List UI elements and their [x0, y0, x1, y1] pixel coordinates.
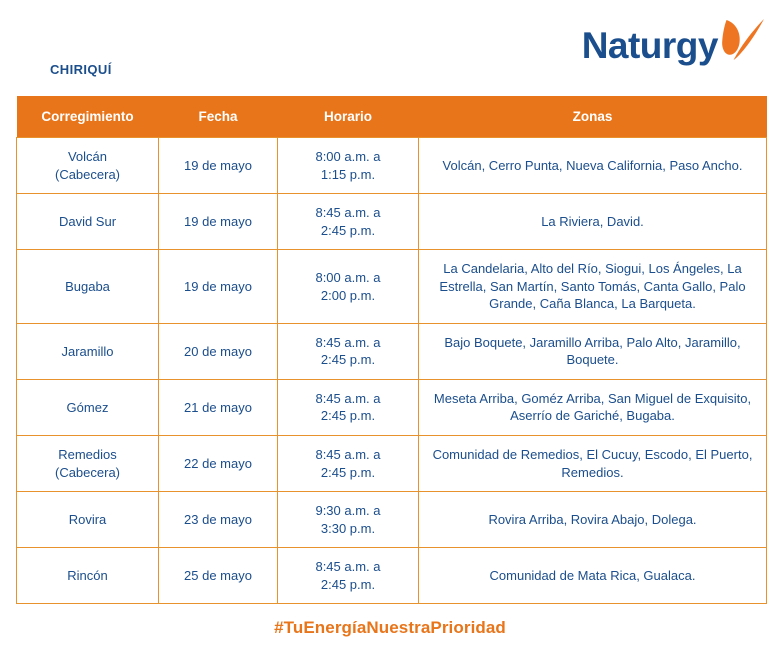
column-header-corregimiento: Corregimiento [17, 96, 159, 138]
cell-fecha: 19 de mayo [159, 138, 278, 194]
table-row: Bugaba19 de mayo8:00 a.m. a2:00 p.m.La C… [17, 250, 767, 324]
cell-zonas: Bajo Boquete, Jaramillo Arriba, Palo Alt… [419, 323, 767, 379]
column-header-horario: Horario [278, 96, 419, 138]
cell-corregimiento: Rincón [17, 548, 159, 604]
table-header-row: Corregimiento Fecha Horario Zonas [17, 96, 767, 138]
table-row: David Sur19 de mayo8:45 a.m. a2:45 p.m.L… [17, 194, 767, 250]
cell-zonas: La Candelaria, Alto del Río, Siogui, Los… [419, 250, 767, 324]
cell-horario: 9:30 a.m. a3:30 p.m. [278, 492, 419, 548]
cell-zonas: Rovira Arriba, Rovira Abajo, Dolega. [419, 492, 767, 548]
cell-corregimiento: David Sur [17, 194, 159, 250]
cell-zonas: Comunidad de Mata Rica, Gualaca. [419, 548, 767, 604]
cell-fecha: 20 de mayo [159, 323, 278, 379]
naturgy-flame-icon [720, 16, 766, 68]
cell-fecha: 25 de mayo [159, 548, 278, 604]
cell-horario: 8:45 a.m. a2:45 p.m. [278, 436, 419, 492]
cell-horario: 8:45 a.m. a2:45 p.m. [278, 548, 419, 604]
region-title: CHIRIQUÍ [50, 62, 112, 77]
table-row: Jaramillo20 de mayo8:45 a.m. a2:45 p.m.B… [17, 323, 767, 379]
cell-zonas: Volcán, Cerro Punta, Nueva California, P… [419, 138, 767, 194]
cell-fecha: 23 de mayo [159, 492, 278, 548]
cell-fecha: 21 de mayo [159, 379, 278, 435]
cell-horario: 8:00 a.m. a1:15 p.m. [278, 138, 419, 194]
cell-horario: 8:00 a.m. a2:00 p.m. [278, 250, 419, 324]
table-row: Rovira23 de mayo9:30 a.m. a3:30 p.m.Rovi… [17, 492, 767, 548]
table-row: Gómez21 de mayo8:45 a.m. a2:45 p.m.Meset… [17, 379, 767, 435]
table-header: Corregimiento Fecha Horario Zonas [17, 96, 767, 138]
cell-fecha: 19 de mayo [159, 250, 278, 324]
cell-horario: 8:45 a.m. a2:45 p.m. [278, 323, 419, 379]
table-row: Rincón25 de mayo8:45 a.m. a2:45 p.m.Comu… [17, 548, 767, 604]
naturgy-logo: Naturgy [582, 20, 766, 76]
table-body: Volcán(Cabecera)19 de mayo8:00 a.m. a1:1… [17, 138, 767, 604]
table-row: Remedios(Cabecera)22 de mayo8:45 a.m. a2… [17, 436, 767, 492]
cell-corregimiento: Volcán(Cabecera) [17, 138, 159, 194]
cell-fecha: 22 de mayo [159, 436, 278, 492]
column-header-fecha: Fecha [159, 96, 278, 138]
outage-schedule-page: CHIRIQUÍ Naturgy Corregimiento Fecha Hor… [0, 0, 780, 650]
cell-corregimiento: Remedios(Cabecera) [17, 436, 159, 492]
cell-corregimiento: Jaramillo [17, 323, 159, 379]
cell-corregimiento: Gómez [17, 379, 159, 435]
cell-horario: 8:45 a.m. a2:45 p.m. [278, 379, 419, 435]
page-footer: #TuEnergíaNuestraPrioridad [0, 618, 780, 638]
cell-fecha: 19 de mayo [159, 194, 278, 250]
column-header-zonas: Zonas [419, 96, 767, 138]
cell-zonas: Meseta Arriba, Goméz Arriba, San Miguel … [419, 379, 767, 435]
logo-wordmark: Naturgy [582, 20, 718, 72]
table-row: Volcán(Cabecera)19 de mayo8:00 a.m. a1:1… [17, 138, 767, 194]
outage-schedule-table: Corregimiento Fecha Horario Zonas Volcán… [16, 96, 767, 604]
cell-zonas: La Riviera, David. [419, 194, 767, 250]
campaign-hashtag: #TuEnergíaNuestraPrioridad [274, 618, 506, 637]
cell-corregimiento: Bugaba [17, 250, 159, 324]
cell-corregimiento: Rovira [17, 492, 159, 548]
cell-horario: 8:45 a.m. a2:45 p.m. [278, 194, 419, 250]
page-header: CHIRIQUÍ Naturgy [0, 0, 780, 96]
cell-zonas: Comunidad de Remedios, El Cucuy, Escodo,… [419, 436, 767, 492]
